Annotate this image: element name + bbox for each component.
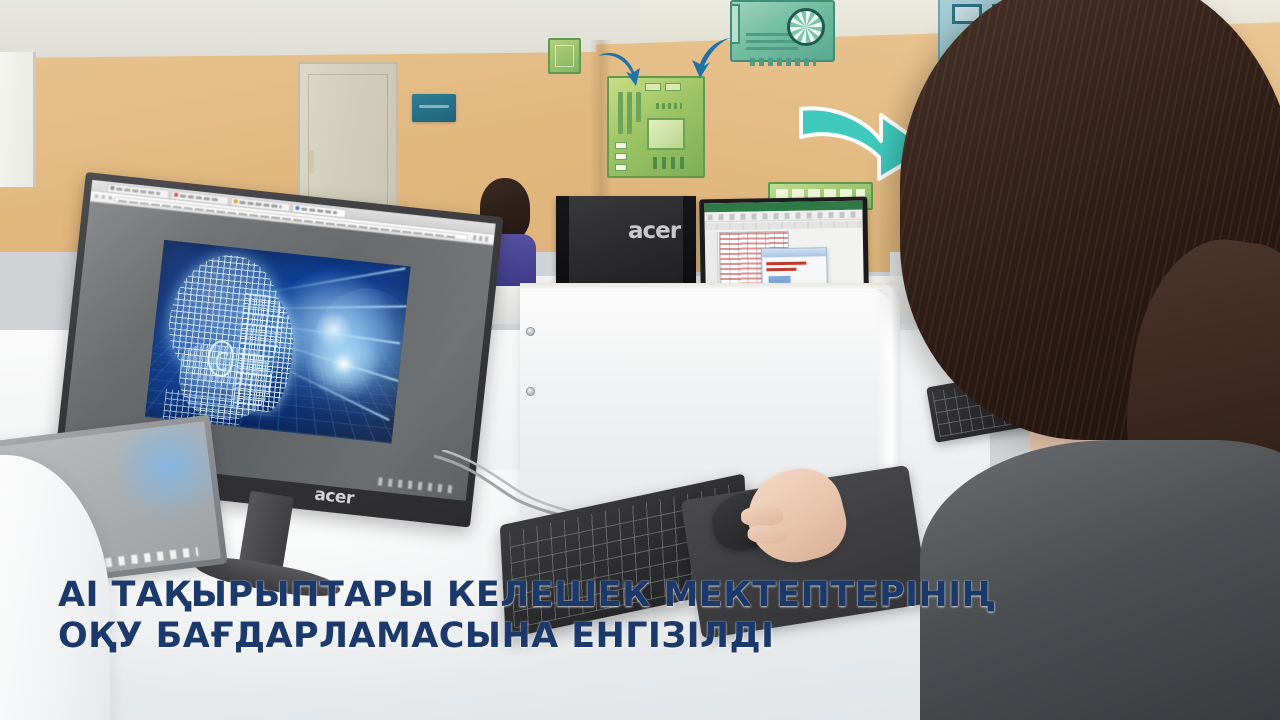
forward-icon[interactable] [101, 195, 105, 199]
arrow-blue-decal-2 [690, 36, 734, 80]
arrow-blue-decal [596, 50, 642, 90]
back-icon[interactable] [94, 194, 98, 198]
divider-bolt [526, 387, 535, 396]
acer-logo-back: acer [628, 218, 680, 244]
chip-decal [548, 38, 581, 74]
fan-icon [787, 8, 825, 46]
headline-caption: AI ТАҚЫРЫПТАРЫ КЕЛЕШЕК МЕКТЕПТЕРІНІҢ ОҚУ… [58, 575, 1058, 657]
divider-bolt [526, 327, 535, 336]
spreadsheet-dialog[interactable] [761, 247, 828, 287]
spreadsheet-column-headers [705, 221, 863, 231]
wireframe-head [159, 249, 314, 431]
screenshot-root: acer [0, 0, 1280, 720]
door-handle [309, 150, 314, 174]
acer-logo-main: acer [313, 485, 354, 509]
browser-toolbar-icons[interactable] [473, 235, 491, 242]
motherboard-decal [607, 76, 705, 178]
door-sign [412, 94, 456, 122]
graphics-card-decal [730, 0, 835, 62]
whiteboard-edge [0, 52, 36, 187]
spreadsheet-monitor[interactable] [699, 197, 869, 292]
back-monitor: acer [556, 196, 696, 288]
spreadsheet-row-headers [705, 232, 719, 287]
headline-line-1: AI ТАҚЫРЫПТАРЫ КЕЛЕШЕК МЕКТЕПТЕРІНІҢ [58, 575, 995, 615]
reload-icon[interactable] [108, 196, 112, 200]
ai-visualization-image [145, 240, 411, 444]
headline-line-2: ОҚУ БАҒДАРЛАМАСЫНА ЕНГІЗІЛДІ [58, 616, 1058, 657]
